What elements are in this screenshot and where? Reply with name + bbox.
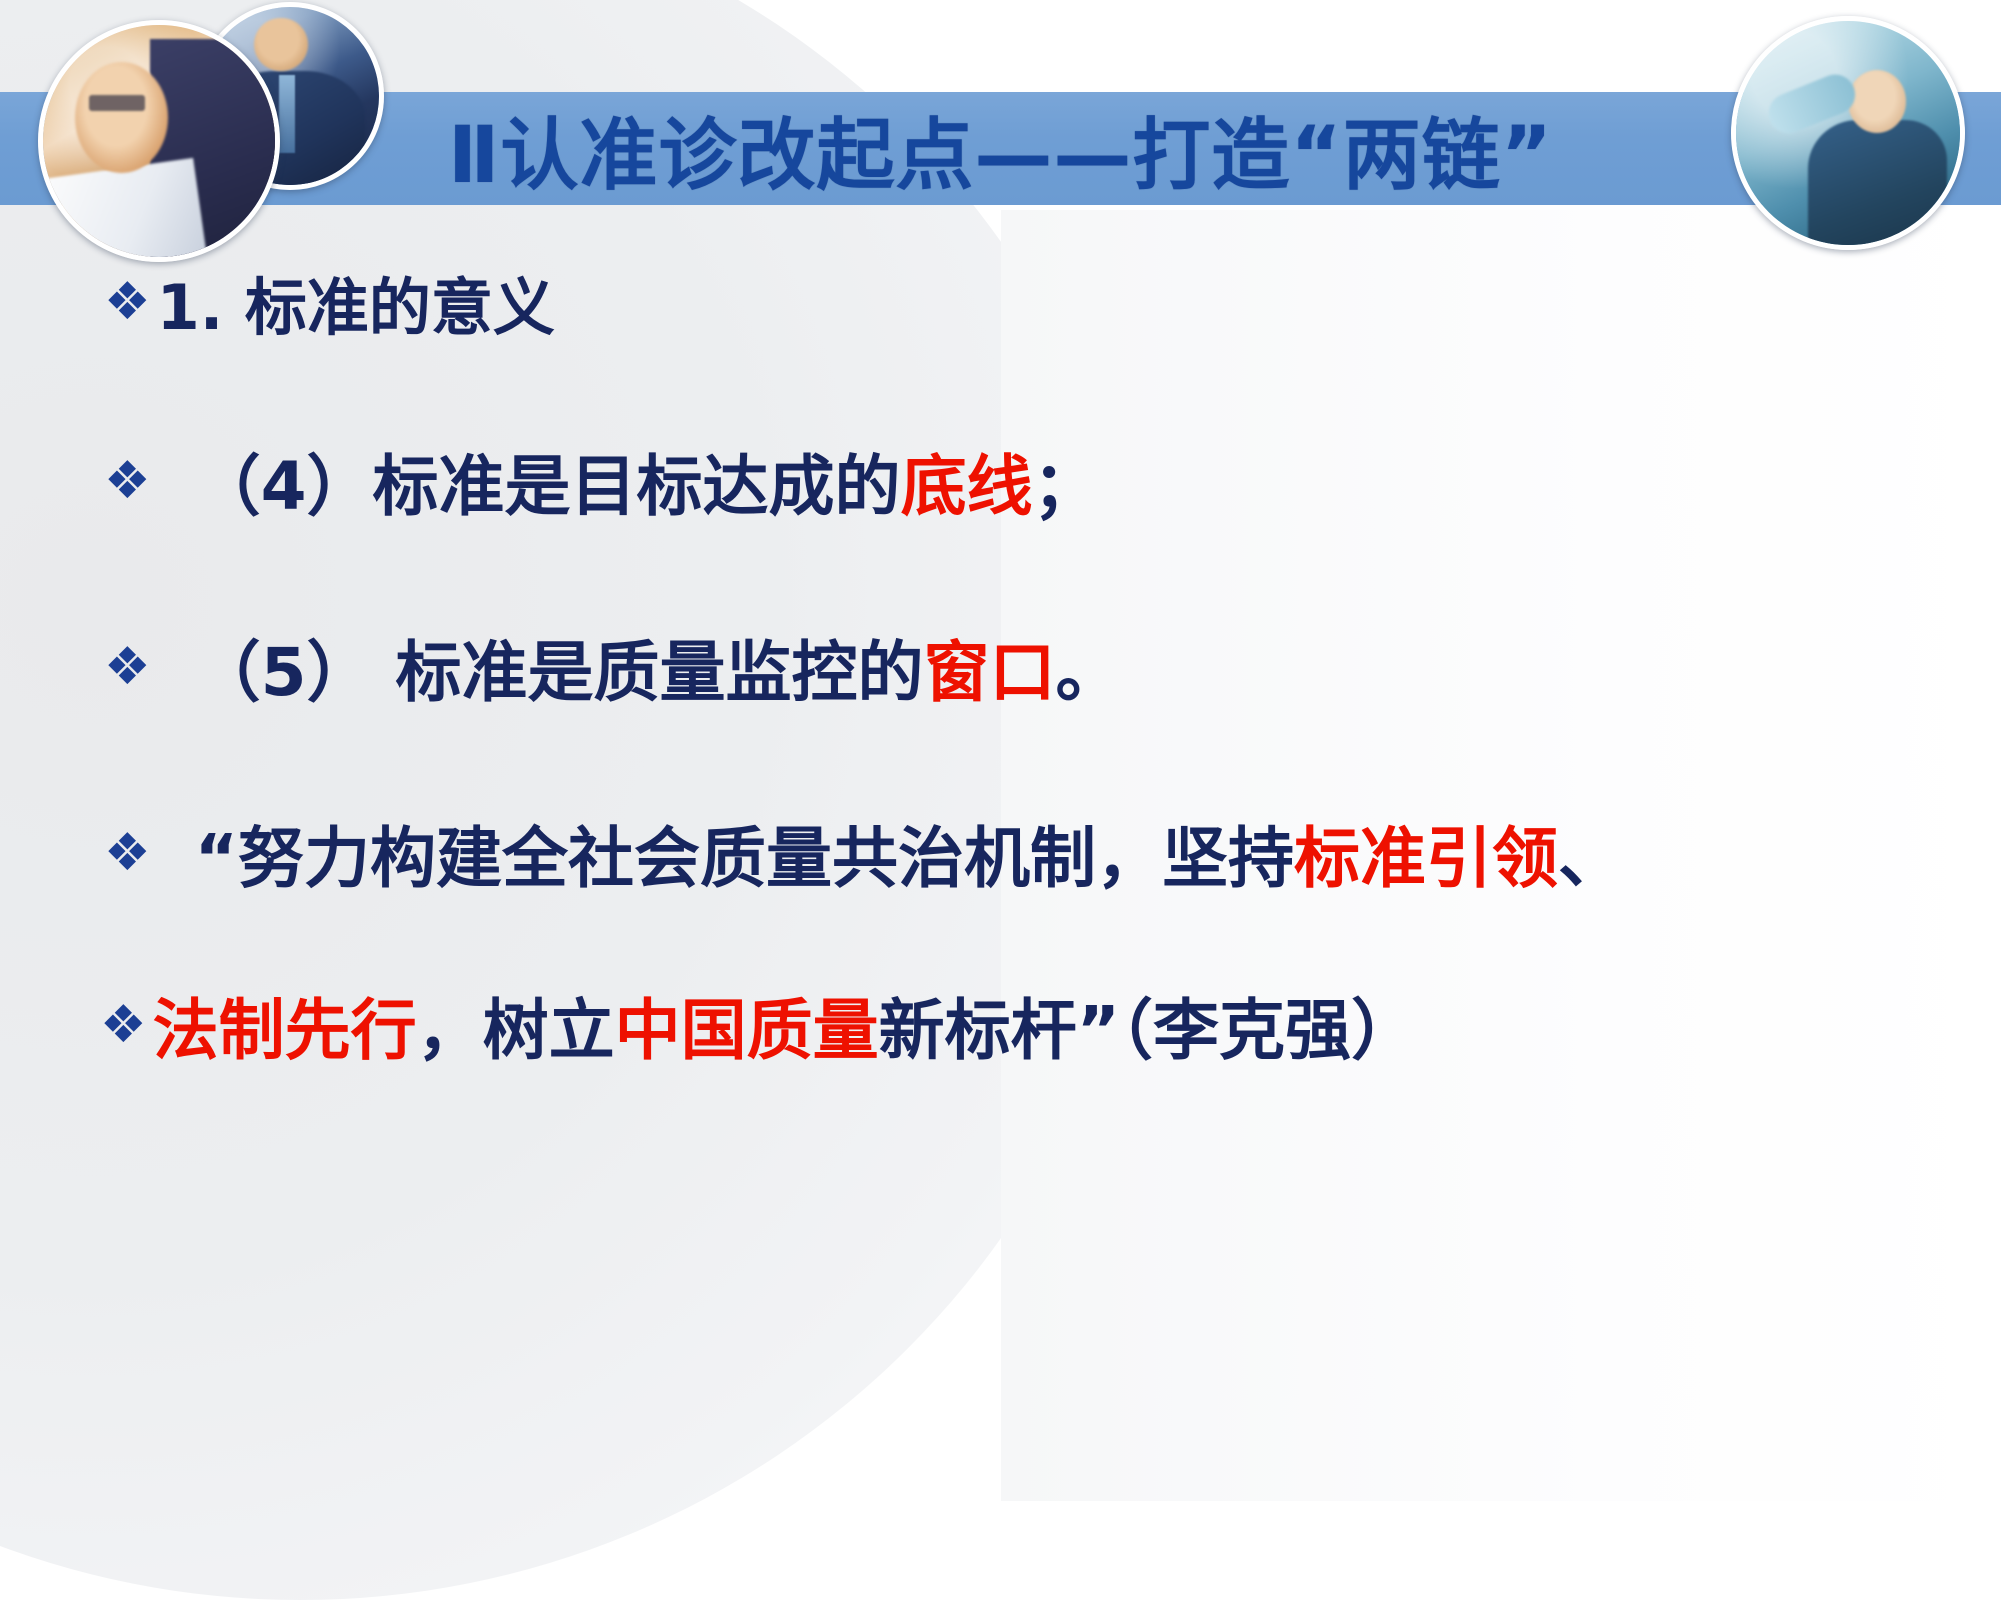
bullet-text-run: ，树立 bbox=[417, 977, 615, 1073]
photo-office-laptop-image bbox=[43, 25, 275, 257]
bullet-text-run: 1. 标准的意义 bbox=[157, 257, 555, 347]
bullet-line-quote-1: ❖ “努力构建全社会质量共治机制，坚持 标准引领 、 bbox=[104, 805, 1624, 901]
photo-presenter-whiteboard bbox=[1731, 16, 1965, 250]
photo-c-head bbox=[1848, 70, 1906, 133]
bullet-text-run: ； bbox=[1033, 433, 1099, 529]
photo-a-shirt bbox=[38, 158, 207, 262]
bullet-text-run: （4）标准是目标达成的 bbox=[195, 433, 901, 529]
photo-a-face bbox=[75, 62, 168, 173]
bullet-line-item-4: ❖ （4）标准是目标达成的 底线 ； bbox=[104, 433, 1099, 529]
diamond-bullet-icon: ❖ bbox=[104, 276, 151, 328]
bullet-text-run: 、 bbox=[1558, 805, 1624, 901]
diamond-bullet-icon: ❖ bbox=[100, 999, 147, 1051]
bullet-text-run-highlight: 窗口 bbox=[924, 619, 1056, 715]
photo-office-laptop bbox=[38, 20, 280, 262]
bullet-text-run-highlight: 标准引领 bbox=[1294, 805, 1558, 901]
bullet-text-run-highlight: 底线 bbox=[901, 433, 1033, 529]
photo-c-suit bbox=[1808, 120, 1947, 250]
bullet-line-item-5: ❖ （5） 标准是质量监控的 窗口 。 bbox=[104, 619, 1122, 715]
bullet-text-run: 新标杆”（李克强） bbox=[879, 977, 1417, 1073]
glasses-icon bbox=[89, 95, 145, 111]
bullet-text-run-highlight: 法制先行 bbox=[153, 977, 417, 1073]
bullet-text-run: （5） 标准是质量监控的 bbox=[195, 619, 924, 715]
slide-content: ❖ 1. 标准的意义 ❖ （4）标准是目标达成的 底线 ； ❖ （5） 标准是质… bbox=[0, 205, 2001, 1501]
bullet-line-quote-2: ❖ 法制先行 ，树立 中国质量 新标杆”（李克强） bbox=[100, 977, 1417, 1073]
bullet-line-heading-1: ❖ 1. 标准的意义 bbox=[104, 257, 555, 347]
diamond-bullet-icon: ❖ bbox=[104, 455, 151, 507]
photo-b-tie bbox=[279, 75, 295, 153]
photo-presenter-whiteboard-image bbox=[1736, 21, 1960, 245]
bullet-text-run-highlight: 中国质量 bbox=[615, 977, 879, 1073]
bullet-text-run: 。 bbox=[1056, 619, 1122, 715]
bullet-text-run: “努力构建全社会质量共治机制，坚持 bbox=[195, 805, 1294, 901]
diamond-bullet-icon: ❖ bbox=[104, 827, 151, 879]
diamond-bullet-icon: ❖ bbox=[104, 641, 151, 693]
